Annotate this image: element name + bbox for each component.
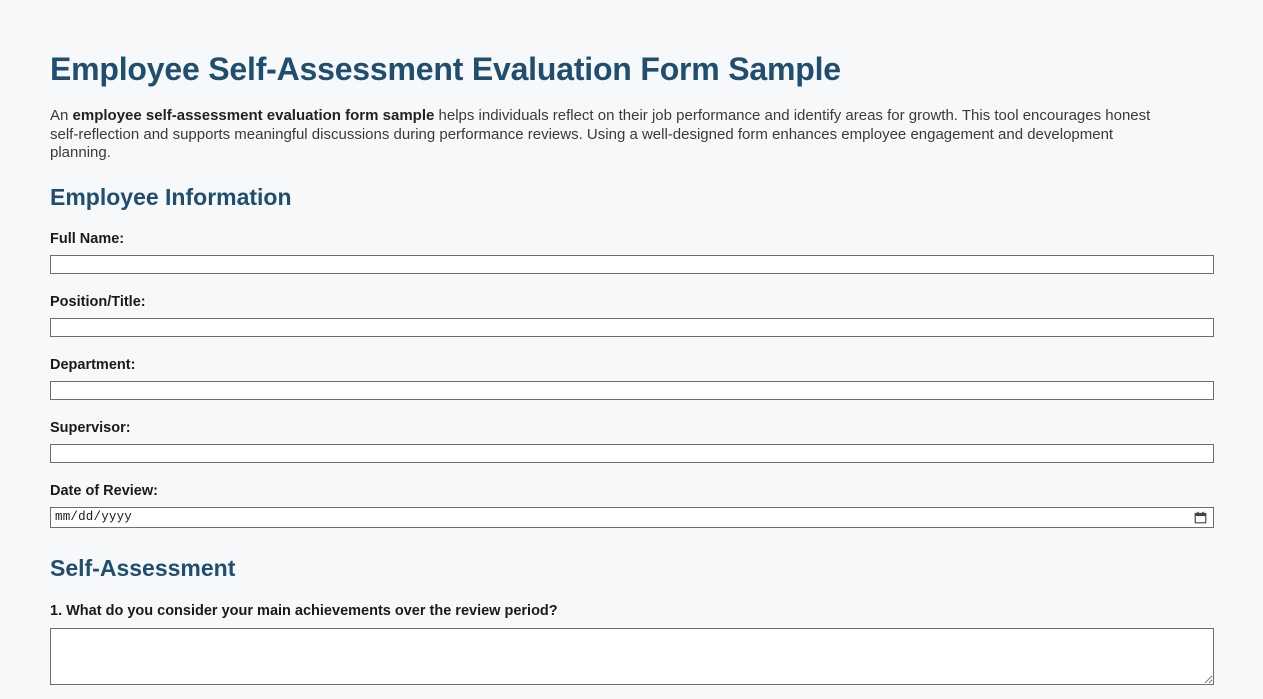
page-title: Employee Self-Assessment Evaluation Form… <box>50 50 841 88</box>
date-placeholder-text: mm/dd/yyyy <box>55 508 1194 527</box>
section-heading-self-assessment: Self-Assessment <box>50 554 235 582</box>
calendar-icon[interactable] <box>1194 511 1207 524</box>
position-title-input[interactable] <box>50 318 1214 337</box>
label-department: Department: <box>50 357 135 374</box>
label-position-title: Position/Title: <box>50 294 146 311</box>
label-question-1: 1. What do you consider your main achiev… <box>50 603 558 620</box>
label-date-of-review: Date of Review: <box>50 483 158 500</box>
date-of-review-input[interactable]: mm/dd/yyyy <box>50 507 1214 528</box>
question-1-textarea[interactable] <box>50 628 1214 685</box>
label-full-name: Full Name: <box>50 231 124 248</box>
intro-lead: An <box>50 107 73 124</box>
label-supervisor: Supervisor: <box>50 420 131 437</box>
form-page: Employee Self-Assessment Evaluation Form… <box>0 0 1263 699</box>
full-name-input[interactable] <box>50 255 1214 274</box>
department-input[interactable] <box>50 381 1214 400</box>
intro-bold-phrase: employee self-assessment evaluation form… <box>73 107 435 124</box>
intro-paragraph: An employee self-assessment evaluation f… <box>50 107 1175 163</box>
section-heading-employee-information: Employee Information <box>50 183 292 211</box>
supervisor-input[interactable] <box>50 444 1214 463</box>
